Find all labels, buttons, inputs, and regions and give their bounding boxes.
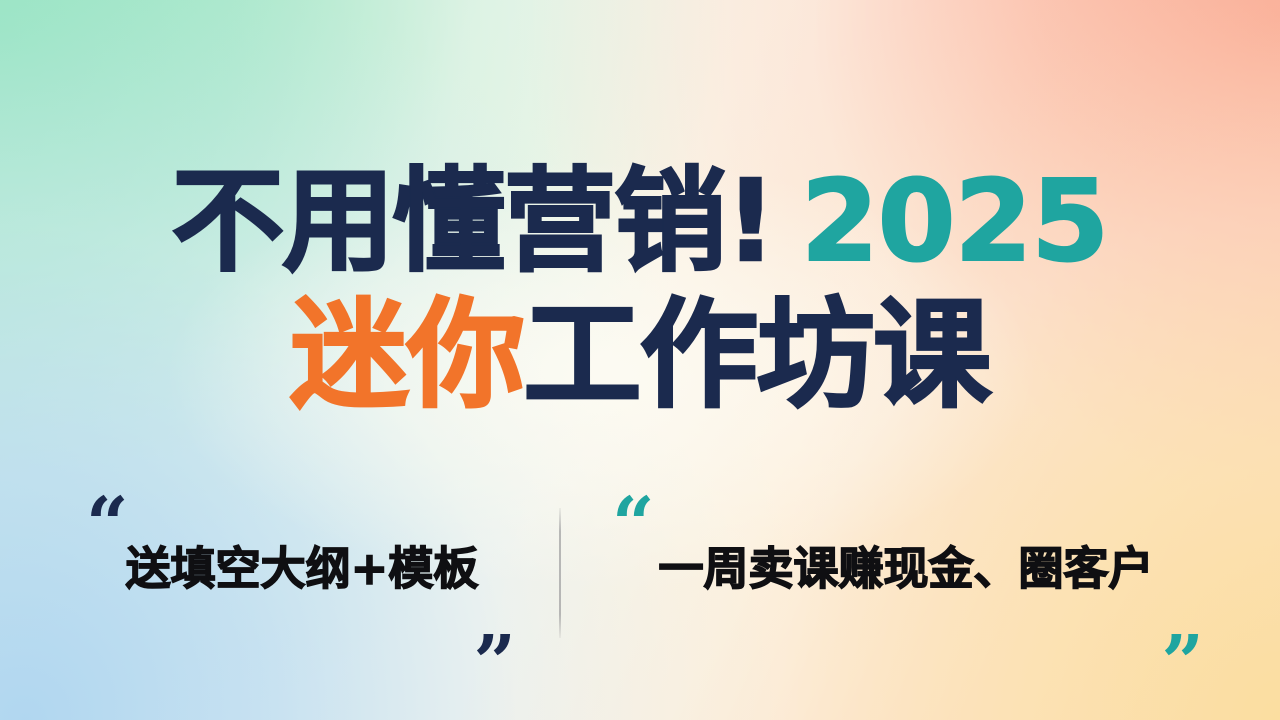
tagline-left-text: 送填空大纲+模板: [62, 544, 542, 594]
headline-line-2: 迷你工作坊课: [0, 296, 1280, 414]
quote-close-icon: ”: [1161, 626, 1204, 700]
promo-poster: 不用懂营销!2025 迷你工作坊课 “ 送填空大纲+模板 ” “ 一周卖课赚现金…: [0, 0, 1280, 720]
headline-line1-segment-year: 2025: [801, 157, 1108, 287]
headline-line-1: 不用懂营销!2025: [0, 166, 1280, 278]
tagline-right-block: “ 一周卖课赚现金、圈客户 ”: [586, 492, 1226, 662]
headline-line1-segment-navy: 不用懂营销!: [172, 157, 775, 287]
headline: 不用懂营销!2025 迷你工作坊课: [0, 166, 1280, 414]
tagline-left-block: “ 送填空大纲+模板 ”: [62, 492, 542, 662]
tagline-right-text: 一周卖课赚现金、圈客户: [586, 544, 1226, 594]
headline-line2-segment-orange: 迷你: [290, 286, 523, 424]
headline-line2-segment-navy: 工作坊课: [523, 286, 989, 424]
tagline-divider: [559, 508, 561, 638]
tagline-row: “ 送填空大纲+模板 ” “ 一周卖课赚现金、圈客户 ”: [0, 492, 1280, 662]
quote-close-icon: ”: [473, 626, 516, 700]
